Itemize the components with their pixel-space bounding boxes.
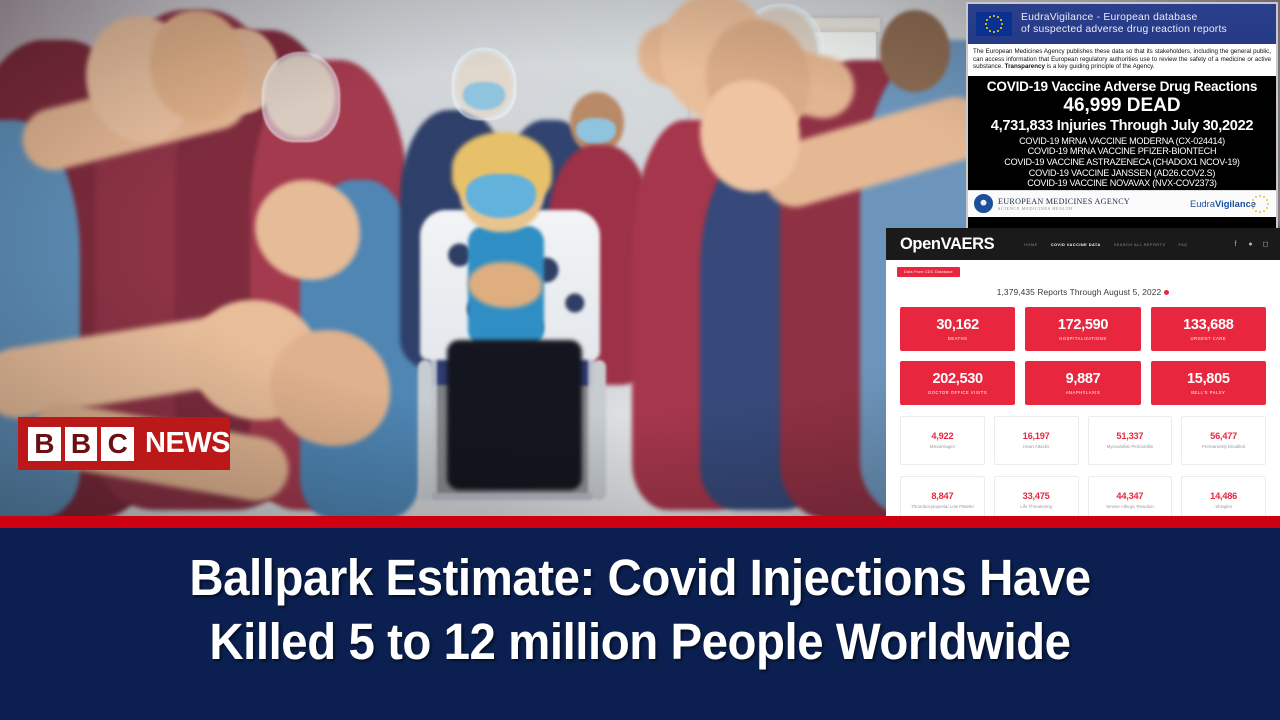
wheelchair-wheel bbox=[418, 360, 432, 500]
stat-value: 202,530 bbox=[933, 371, 983, 387]
ema-logo-icon bbox=[974, 194, 993, 213]
openvaers-secondary-stats-row1: 4,922Miscarriages16,197Heart Attacks51,3… bbox=[886, 405, 1280, 465]
stat-value: 14,486 bbox=[1210, 491, 1237, 501]
stat-value: 33,475 bbox=[1023, 491, 1050, 501]
stat-label: BELL'S PALSY bbox=[1191, 390, 1225, 395]
stat-value: 172,590 bbox=[1058, 317, 1108, 333]
hand bbox=[150, 10, 246, 122]
stat-card-secondary[interactable]: 33,475Life Threatening bbox=[994, 476, 1079, 516]
eudra-header-line1: EudraVigilance - European database bbox=[1021, 12, 1227, 24]
reports-count-text: 1,379,435 Reports Through August 5, 2022 bbox=[997, 287, 1162, 297]
openvaers-social-icons: f ● ◻ bbox=[1231, 240, 1270, 249]
openvaers-panel: OpenVAERS HOMECOVID VACCINE DATASEARCH A… bbox=[886, 228, 1280, 516]
stat-card-secondary[interactable]: 44,347Severe Allergic Reaction bbox=[1088, 476, 1173, 516]
stat-value: 44,347 bbox=[1116, 491, 1143, 501]
stat-label: URGENT CARE bbox=[1190, 336, 1226, 341]
bbc-news-word: NEWS bbox=[145, 427, 230, 460]
stat-card-primary[interactable]: 202,530DOCTOR OFFICE VISITS bbox=[900, 361, 1015, 405]
eudra-vaccine-item: COVID-19 VACCINE ASTRAZENECA (CHADOX1 NC… bbox=[970, 157, 1274, 168]
face-mask-icon bbox=[463, 82, 505, 110]
face-shield-icon bbox=[262, 52, 340, 142]
bbc-letter-b2: B bbox=[65, 427, 98, 461]
eudra-vaccine-list: COVID-19 MRNA VACCINE MODERNA (CX-024414… bbox=[970, 136, 1274, 189]
eudra-vaccine-item: COVID-19 MRNA VACCINE PFIZER-BIONTECH bbox=[970, 146, 1274, 157]
disclaimer-transparency: Transparency bbox=[1005, 63, 1045, 70]
eudravigilance-figures: COVID-19 Vaccine Adverse Drug Reactions … bbox=[968, 76, 1276, 190]
stat-card-secondary[interactable]: 8,847Thrombocytopenia/ Low Platelet bbox=[900, 476, 985, 516]
stat-value: 30,162 bbox=[936, 317, 979, 333]
red-divider-bar bbox=[0, 516, 1280, 528]
openvaers-nav-covid-vaccine-data[interactable]: COVID VACCINE DATA bbox=[1051, 242, 1101, 247]
stat-card-secondary[interactable]: 51,337Myocarditis/ Pericarditis bbox=[1088, 416, 1173, 465]
openvaers-data-badge: Data From CDC Database bbox=[897, 267, 960, 277]
openvaers-nav-home[interactable]: HOME bbox=[1024, 242, 1037, 247]
eudra-vaccine-item: COVID-19 VACCINE NOVAVAX (NVX-COV2373) bbox=[970, 178, 1274, 189]
openvaers-primary-stats: 30,162DEATHS172,590HOSPITALIZATIONS133,6… bbox=[886, 297, 1280, 405]
ema-tagline: SCIENCE MEDICINES HEALTH bbox=[998, 206, 1130, 211]
stat-label: HOSPITALIZATIONS bbox=[1059, 336, 1106, 341]
stat-card-primary[interactable]: 15,805BELL'S PALSY bbox=[1151, 361, 1266, 405]
stat-value: 15,805 bbox=[1187, 371, 1230, 387]
stat-card-primary[interactable]: 9,887ANAPHYLAXIS bbox=[1025, 361, 1140, 405]
eu-star-ring-icon bbox=[1250, 194, 1270, 214]
disclaimer-part-c: is a key guiding principle of the Agency… bbox=[1045, 63, 1155, 70]
stat-value: 56,477 bbox=[1210, 431, 1237, 441]
stat-card-secondary[interactable]: 56,477Permanently Disabled bbox=[1181, 416, 1266, 465]
stat-card-primary[interactable]: 172,590HOSPITALIZATIONS bbox=[1025, 307, 1140, 351]
staff-head bbox=[880, 10, 950, 92]
openvaers-brand[interactable]: OpenVAERS bbox=[900, 235, 994, 254]
openvaers-navbar: OpenVAERS HOMECOVID VACCINE DATASEARCH A… bbox=[886, 228, 1280, 260]
stat-value: 16,197 bbox=[1023, 431, 1050, 441]
eudra-title: COVID-19 Vaccine Adverse Drug Reactions bbox=[970, 79, 1274, 94]
eudra-header-line2: of suspected adverse drug reaction repor… bbox=[1021, 24, 1227, 36]
patient-hands bbox=[468, 262, 542, 308]
eudravigilance-wordmark: EudraVigilance bbox=[1190, 198, 1270, 209]
instagram-icon[interactable]: ◻ bbox=[1261, 240, 1270, 249]
stat-label: Life Threatening bbox=[1020, 504, 1052, 510]
facebook-icon[interactable]: f bbox=[1231, 240, 1240, 249]
stat-label: Miscarriages bbox=[930, 444, 955, 450]
stat-value: 4,922 bbox=[931, 431, 953, 441]
headline-text: Ballpark Estimate: Covid Injections Have… bbox=[45, 546, 1235, 674]
ema-agency-name: EUROPEAN MEDICINES AGENCY bbox=[998, 197, 1130, 206]
eudravigilance-header-text: EudraVigilance - European database of su… bbox=[1021, 12, 1227, 37]
stat-label: Heart Attacks bbox=[1023, 444, 1049, 450]
wheelchair-wheel bbox=[592, 360, 606, 500]
stat-label: DEATHS bbox=[948, 336, 968, 341]
stat-label: Thrombocytopenia/ Low Platelet bbox=[911, 504, 974, 510]
openvaers-reports-count: 1,379,435 Reports Through August 5, 2022 bbox=[886, 287, 1280, 297]
openvaers-nav-faq[interactable]: FAQ bbox=[1179, 242, 1188, 247]
patient-legs bbox=[447, 340, 582, 490]
stat-label: ANAPHYLAXIS bbox=[1066, 390, 1101, 395]
stat-card-secondary[interactable]: 16,197Heart Attacks bbox=[994, 416, 1079, 465]
eudravigilance-header: EudraVigilance - European database of su… bbox=[968, 4, 1276, 44]
openvaers-nav-links: HOMECOVID VACCINE DATASEARCH ALL REPORTS… bbox=[1024, 242, 1187, 247]
eudravigilance-footer: EUROPEAN MEDICINES AGENCY SCIENCE MEDICI… bbox=[968, 190, 1276, 217]
stat-label: DOCTOR OFFICE VISITS bbox=[928, 390, 987, 395]
eu-flag-icon bbox=[976, 12, 1012, 36]
stat-label: Myocarditis/ Pericarditis bbox=[1107, 444, 1153, 450]
twitter-icon[interactable]: ● bbox=[1246, 240, 1255, 249]
eudra-vaccine-item: COVID-19 MRNA VACCINE MODERNA (CX-024414… bbox=[970, 136, 1274, 147]
eudra-injuries: 4,731,833 Injuries Through July 30,2022 bbox=[970, 118, 1274, 134]
eudravigilance-panel: EudraVigilance - European database of su… bbox=[966, 2, 1278, 234]
stat-value: 51,337 bbox=[1116, 431, 1143, 441]
stat-label: Shingles bbox=[1215, 504, 1232, 510]
ema-branding: EUROPEAN MEDICINES AGENCY SCIENCE MEDICI… bbox=[974, 194, 1130, 213]
headline-banner: Ballpark Estimate: Covid Injections Have… bbox=[0, 528, 1280, 720]
eudra-deaths: 46,999 DEAD bbox=[970, 95, 1274, 117]
eudra-word-light: Eudra bbox=[1190, 198, 1215, 209]
headline-line-1: Ballpark Estimate: Covid Injections Have bbox=[45, 546, 1235, 610]
stat-label: Permanently Disabled bbox=[1202, 444, 1245, 450]
bbc-letter-c: C bbox=[101, 427, 134, 461]
stat-value: 133,688 bbox=[1183, 317, 1233, 333]
bbc-letter-b1: B bbox=[28, 427, 61, 461]
openvaers-nav-search-all-reports[interactable]: SEARCH ALL REPORTS bbox=[1114, 242, 1166, 247]
bbc-news-logo: B B C NEWS bbox=[18, 417, 230, 470]
stat-card-secondary[interactable]: 4,922Miscarriages bbox=[900, 416, 985, 465]
slide-canvas: B B C NEWS EudraVigilance - European dat… bbox=[0, 0, 1280, 720]
stat-value: 8,847 bbox=[931, 491, 953, 501]
stat-label: Severe Allergic Reaction bbox=[1106, 504, 1154, 510]
headline-line-2: Killed 5 to 12 million People Worldwide bbox=[45, 610, 1235, 674]
face-mask-icon bbox=[576, 118, 616, 144]
face-mask-icon bbox=[466, 174, 536, 218]
reports-dot-icon bbox=[1164, 290, 1169, 295]
eudra-vaccine-item: COVID-19 VACCINE JANSSEN (AD26.COV2.S) bbox=[970, 168, 1274, 179]
stat-value: 9,887 bbox=[1066, 371, 1101, 387]
eudravigilance-disclaimer: The European Medicines Agency publishes … bbox=[968, 44, 1276, 76]
stat-card-primary[interactable]: 133,688URGENT CARE bbox=[1151, 307, 1266, 351]
stat-card-primary[interactable]: 30,162DEATHS bbox=[900, 307, 1015, 351]
stat-card-secondary[interactable]: 14,486Shingles bbox=[1181, 476, 1266, 516]
openvaers-secondary-stats-row2: 8,847Thrombocytopenia/ Low Platelet33,47… bbox=[886, 465, 1280, 516]
